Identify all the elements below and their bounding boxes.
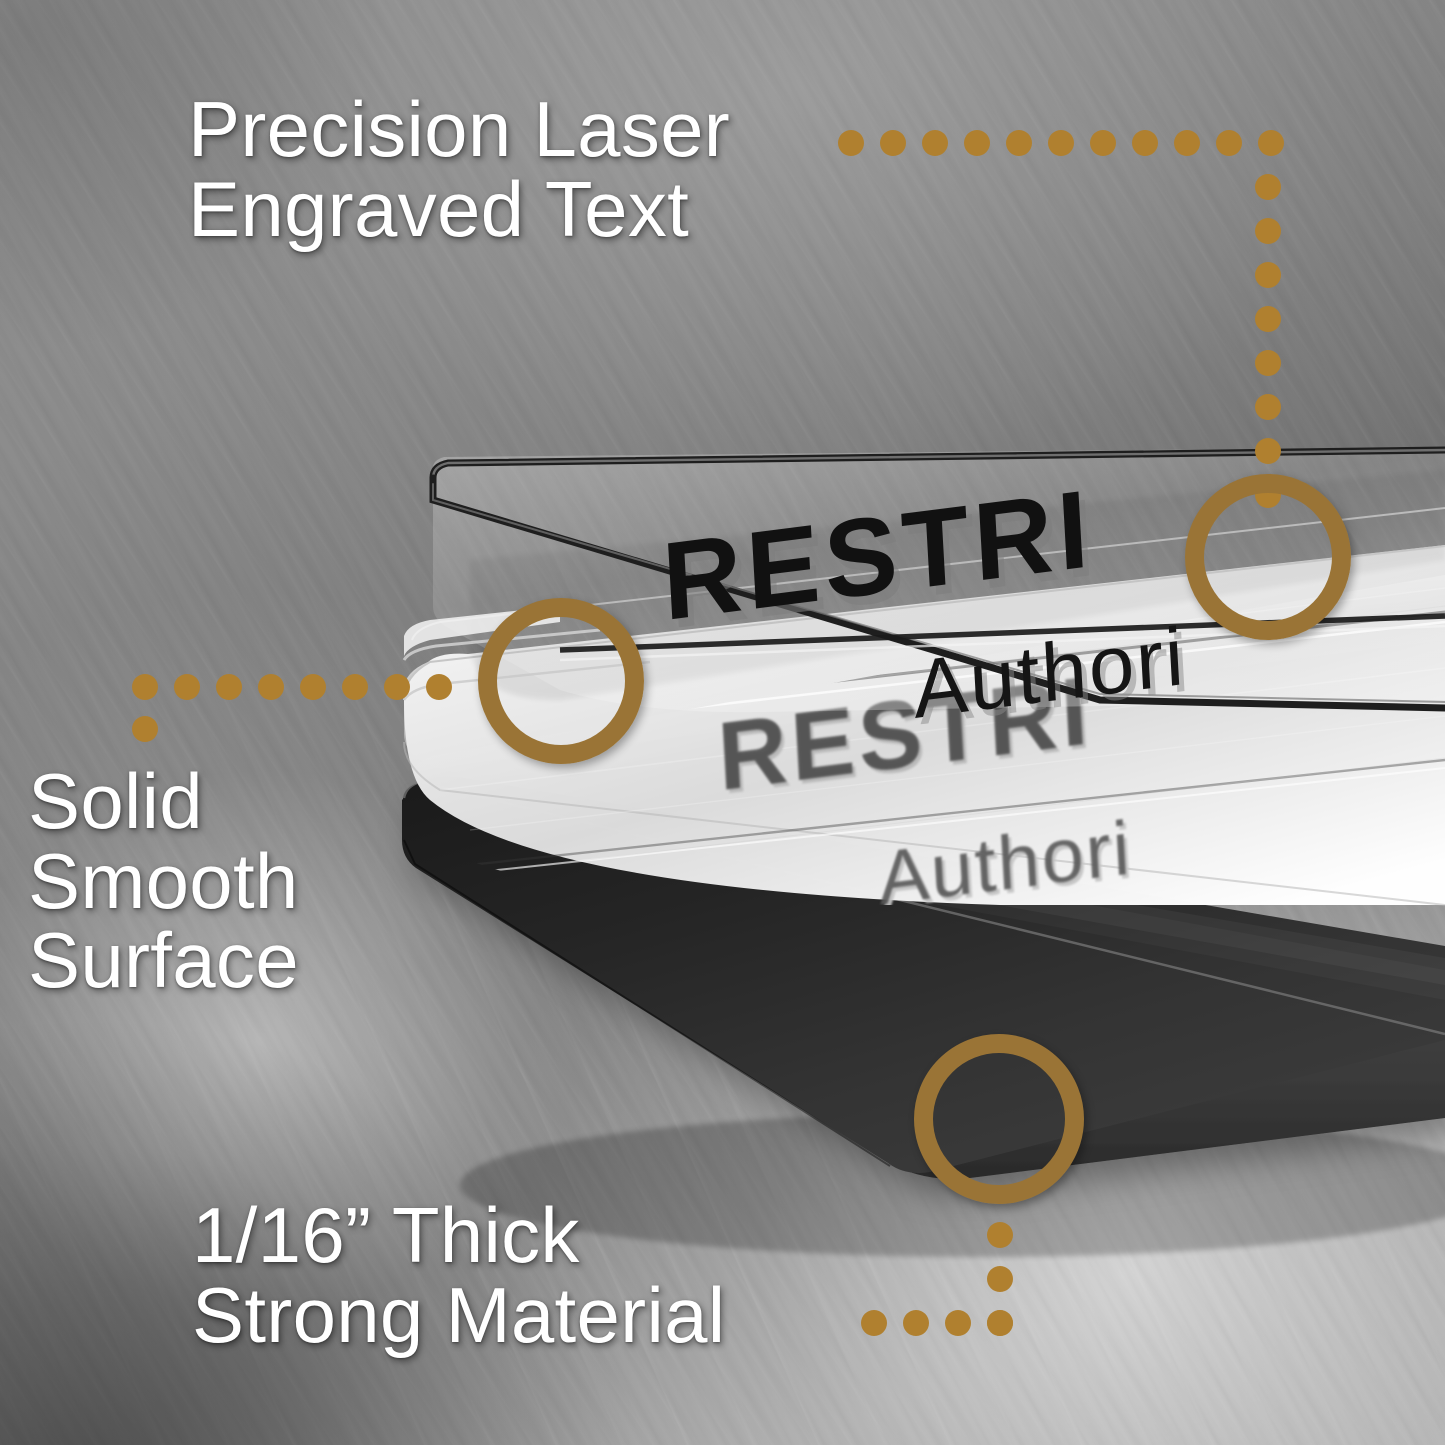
leader-line-engraved-vertical: [1255, 174, 1281, 508]
leader-dot: [1255, 306, 1281, 332]
leader-dot: [132, 674, 158, 700]
leader-dot: [1255, 262, 1281, 288]
ring-marker-smooth-surface: [478, 598, 644, 764]
leader-dot: [1255, 350, 1281, 376]
leader-dot: [838, 130, 864, 156]
leader-dot: [1216, 130, 1242, 156]
leader-dot: [1258, 130, 1284, 156]
leader-dot: [1255, 174, 1281, 200]
leader-dot: [216, 674, 242, 700]
leader-dot: [987, 1310, 1013, 1336]
leader-dot: [1090, 130, 1116, 156]
callout-label-thickness: 1/16” Thick Strong Material: [192, 1196, 725, 1355]
leader-dot: [1132, 130, 1158, 156]
leader-line-engraved-horizontal: [838, 130, 1284, 156]
leader-dot: [342, 674, 368, 700]
leader-dot: [258, 674, 284, 700]
ring-marker-thickness: [914, 1034, 1084, 1204]
leader-dot: [1255, 438, 1281, 464]
leader-dot: [1048, 130, 1074, 156]
leader-dot: [861, 1310, 887, 1336]
leader-dot: [987, 1222, 1013, 1248]
leader-dot: [945, 1310, 971, 1336]
leader-dot: [987, 1266, 1013, 1292]
leader-line-thickness-horizontal: [861, 1310, 1013, 1336]
leader-dot: [903, 1310, 929, 1336]
leader-dot: [300, 674, 326, 700]
leader-dot: [1006, 130, 1032, 156]
leader-dot: [964, 130, 990, 156]
leader-dot: [880, 130, 906, 156]
leader-dot: [132, 716, 158, 742]
leader-dot: [174, 674, 200, 700]
leader-line-surface-drop: [132, 716, 158, 742]
ring-marker-engraved-text: [1185, 474, 1351, 640]
leader-dot: [1174, 130, 1200, 156]
leader-dot: [922, 130, 948, 156]
leader-dot: [426, 674, 452, 700]
leader-dot: [384, 674, 410, 700]
leader-dot: [1255, 218, 1281, 244]
callout-label-engraved-text: Precision Laser Engraved Text: [188, 90, 730, 249]
leader-dot: [1255, 394, 1281, 420]
infographic-canvas: RESTRI RESTRI Authori Authori RESTRI: [0, 0, 1445, 1445]
callout-label-smooth-surface: Solid Smooth Surface: [28, 762, 299, 1001]
leader-line-surface-horizontal: [132, 674, 452, 700]
